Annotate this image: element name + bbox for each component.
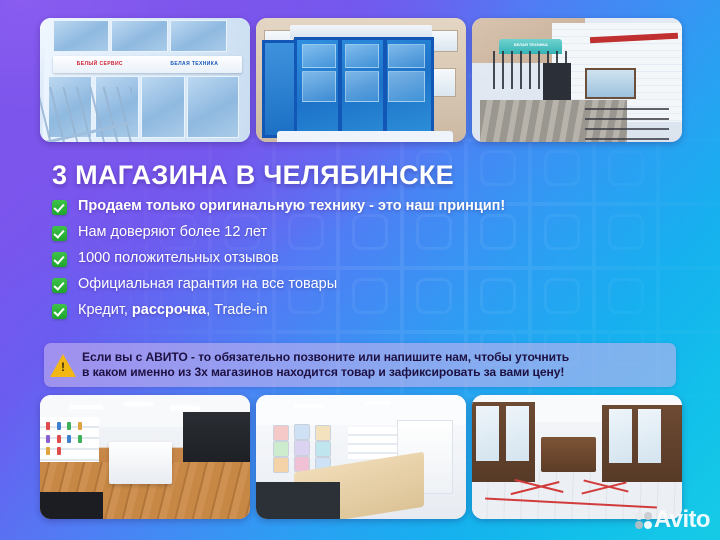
photo-row-bottom bbox=[40, 395, 684, 519]
avito-notice-line2: в каком именно из 3х магазинов находится… bbox=[82, 365, 564, 379]
photo-image bbox=[256, 395, 466, 519]
warning-triangle-icon bbox=[50, 354, 76, 377]
photo-interior-wood-floor[interactable] bbox=[40, 395, 250, 519]
list-item-label: Официальная гарантия на все товары bbox=[78, 276, 337, 293]
photo-image: БЕЛАЯ ТЕХНИКА bbox=[472, 18, 682, 142]
photo-interior-tiled-floor[interactable] bbox=[472, 395, 682, 519]
promo-banner: БЕЛЫЙ СЕРВИС БЕЛАЯ ТЕХНИКА bbox=[0, 0, 720, 540]
benefits-list: Продаем только оригинальную технику - эт… bbox=[52, 198, 672, 328]
avito-notice-line1: Если вы с АВИТО - то обязательно позвони… bbox=[82, 350, 569, 364]
sign-text-right: БЕЛАЯ ТЕХНИКА bbox=[147, 61, 242, 67]
awning-label: БЕЛАЯ ТЕХНИКА bbox=[506, 42, 556, 47]
list-item: Продаем только оригинальную технику - эт… bbox=[52, 198, 672, 215]
storefront-signboard: БЕЛЫЙ СЕРВИС БЕЛАЯ ТЕХНИКА bbox=[53, 56, 242, 72]
green-check-icon bbox=[52, 252, 67, 267]
avito-dots-icon bbox=[635, 512, 652, 529]
avito-notice-text: Если вы с АВИТО - то обязательно позвони… bbox=[82, 350, 569, 380]
list-item: 1000 положительных отзывов bbox=[52, 250, 672, 267]
list-item-label: Кредит, рассрочка, Trade-in bbox=[78, 302, 268, 319]
sign-text-left: БЕЛЫЙ СЕРВИС bbox=[53, 61, 148, 67]
photo-row-top: БЕЛЫЙ СЕРВИС БЕЛАЯ ТЕХНИКА bbox=[40, 18, 684, 142]
avito-wordmark: Avito bbox=[654, 508, 710, 532]
photo-storefront-blue-glass[interactable] bbox=[256, 18, 466, 142]
photo-storefront-white-service[interactable]: БЕЛЫЙ СЕРВИС БЕЛАЯ ТЕХНИКА bbox=[40, 18, 250, 142]
green-check-icon bbox=[52, 278, 67, 293]
list-item-label: Нам доверяют более 12 лет bbox=[78, 224, 267, 241]
green-check-icon bbox=[52, 226, 67, 241]
list-item: Кредит, рассрочка, Trade-in bbox=[52, 302, 672, 319]
avito-notice-banner: Если вы с АВИТО - то обязательно позвони… bbox=[44, 343, 676, 387]
list-item: Официальная гарантия на все товары bbox=[52, 276, 672, 293]
list-item-label: 1000 положительных отзывов bbox=[78, 250, 279, 267]
green-check-icon bbox=[52, 304, 67, 319]
green-check-icon bbox=[52, 200, 67, 215]
list-item-label: Продаем только оригинальную технику - эт… bbox=[78, 198, 505, 215]
photo-image: БЕЛЫЙ СЕРВИС БЕЛАЯ ТЕХНИКА bbox=[40, 18, 250, 142]
list-item: Нам доверяют более 12 лет bbox=[52, 224, 672, 241]
photo-image bbox=[472, 395, 682, 519]
photo-image bbox=[40, 395, 250, 519]
photo-image bbox=[256, 18, 466, 142]
photo-storefront-awning[interactable]: БЕЛАЯ ТЕХНИКА bbox=[472, 18, 682, 142]
avito-watermark: Avito bbox=[635, 508, 710, 532]
photo-interior-wall-frames[interactable] bbox=[256, 395, 466, 519]
page-title: 3 МАГАЗИНА В ЧЕЛЯБИНСКЕ bbox=[52, 160, 454, 191]
